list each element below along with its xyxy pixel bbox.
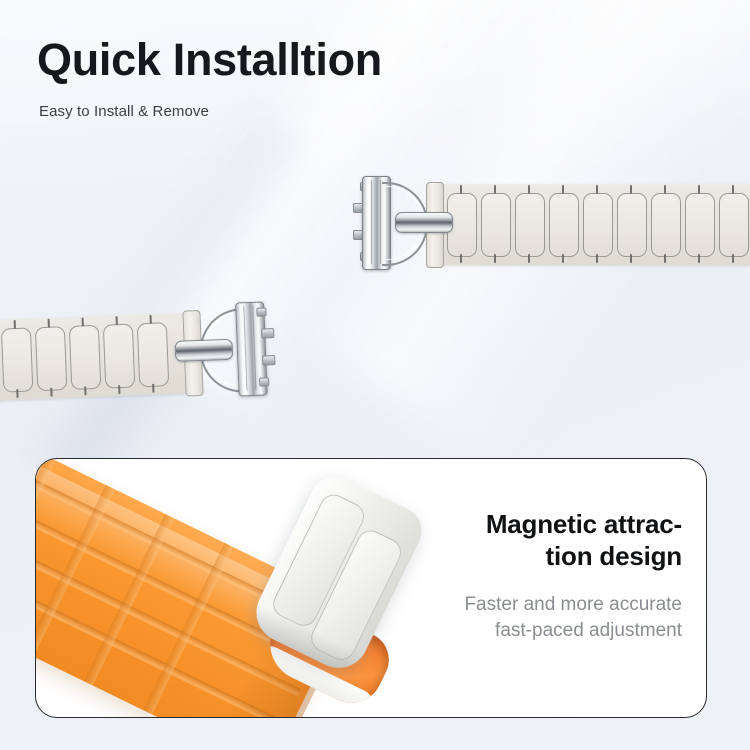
feature-title: Magnetic attrac- tion design bbox=[382, 509, 682, 572]
feature-title-line2: tion design bbox=[382, 541, 682, 573]
page-title: Quick Installtion bbox=[37, 36, 382, 83]
connector-pin bbox=[395, 212, 453, 233]
feature-panel: Magnetic attrac- tion design Faster and … bbox=[35, 458, 707, 718]
lower-band-illustration bbox=[0, 292, 302, 416]
connector-pin bbox=[175, 339, 234, 362]
feature-title-line1: Magnetic attrac- bbox=[382, 509, 682, 541]
product-marketing-image: Quick Installtion Easy to Install & Remo… bbox=[0, 0, 750, 750]
feature-subtitle: Faster and more accurate fast-paced adju… bbox=[382, 592, 682, 643]
feature-subtitle-line2: fast-paced adjustment bbox=[382, 618, 682, 643]
feature-subtitle-line1: Faster and more accurate bbox=[382, 592, 682, 617]
feature-text-block: Magnetic attrac- tion design Faster and … bbox=[382, 509, 682, 643]
page-subtitle: Easy to Install & Remove bbox=[39, 103, 209, 120]
upper-band-illustration bbox=[346, 168, 750, 280]
